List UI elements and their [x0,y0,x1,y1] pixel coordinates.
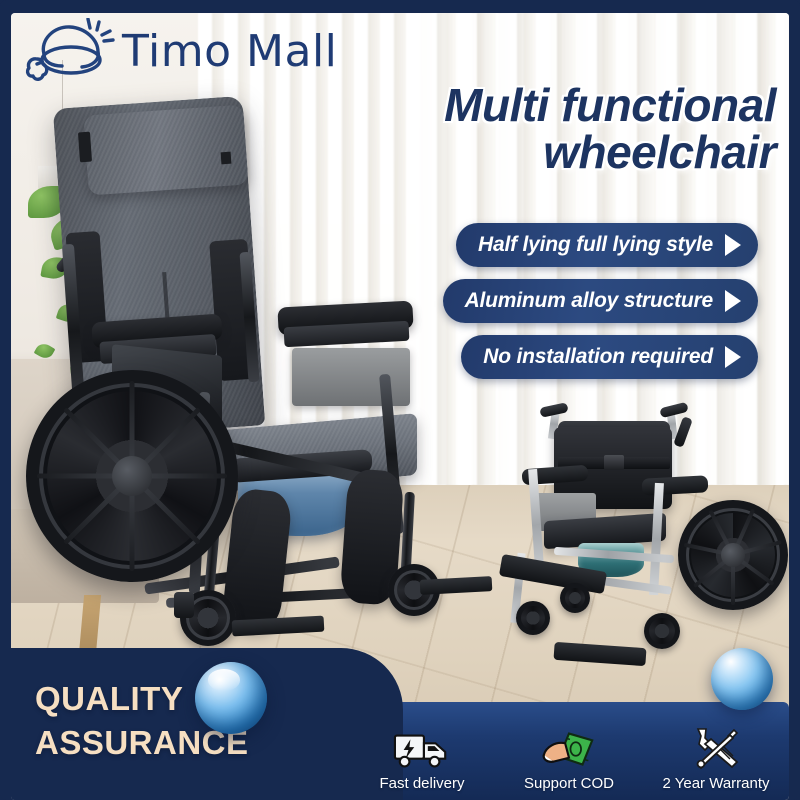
quality-line-1: QUALITY [35,680,183,717]
product-advertisement-poster: Timo Mall Multi functional wheelchair Ha… [0,0,800,800]
feature-label: No installation required [483,345,713,369]
chevron-right-icon [725,346,741,368]
page-title: Multi functional wheelchair [316,82,776,176]
headrest-cushion [83,105,248,196]
rear-small-caster [560,583,590,613]
chevron-right-icon [725,290,741,312]
armrest-right [642,475,709,495]
feature-pill-aluminum-alloy[interactable]: Aluminum alloy structure [443,279,758,323]
feature-list: Half lying full lying style Aluminum all… [443,223,758,379]
wheel-hub [721,543,745,567]
rear-wheel-left [26,370,238,582]
brand-logo[interactable]: Timo Mall [24,18,337,86]
feature-pill-no-installation[interactable]: No installation required [461,335,758,379]
service-badge-label: 2 Year Warranty [663,775,770,792]
service-badge-label: Fast delivery [379,775,464,792]
service-badge-label: Support COD [524,775,614,792]
delivery-truck-icon [393,725,451,771]
service-badge-warranty: 2 Year Warranty [657,725,775,792]
secondary-product-wheelchair [492,405,782,670]
headline-line-2: wheelchair [316,129,776,176]
feature-pill-half-lying[interactable]: Half lying full lying style [456,223,758,267]
blue-glass-sphere-icon-secondary [711,648,773,710]
feature-label: Aluminum alloy structure [465,289,713,313]
belt-buckle [604,455,624,470]
side-skirt-panel-right [292,348,410,406]
service-badge-support-cod: Support COD [510,725,628,792]
anti-tip-stub [174,592,194,618]
hand-holding-cash-icon [540,725,598,771]
front-caster-left [516,601,550,635]
chevron-right-icon [725,234,741,256]
rear-wheel [678,500,788,610]
quality-assurance-banner: QUALITY ASSURANCE Fast delivery [11,635,789,800]
brand-name: Timo Mall [122,30,337,74]
headrest-strap [78,132,92,163]
wrench-screwdriver-icon [690,725,742,771]
footplate-left [232,616,325,637]
headrest-tag [221,152,232,165]
main-product-reclining-wheelchair [16,92,476,672]
wheel-hub [112,456,152,496]
cap-with-pompom-icon [24,18,116,86]
service-badges: Fast delivery Support COD [363,708,775,792]
headline-line-1: Multi functional [444,79,776,131]
service-badge-fast-delivery: Fast delivery [363,725,481,792]
blue-glass-sphere-icon [195,662,267,734]
feature-label: Half lying full lying style [478,233,713,257]
